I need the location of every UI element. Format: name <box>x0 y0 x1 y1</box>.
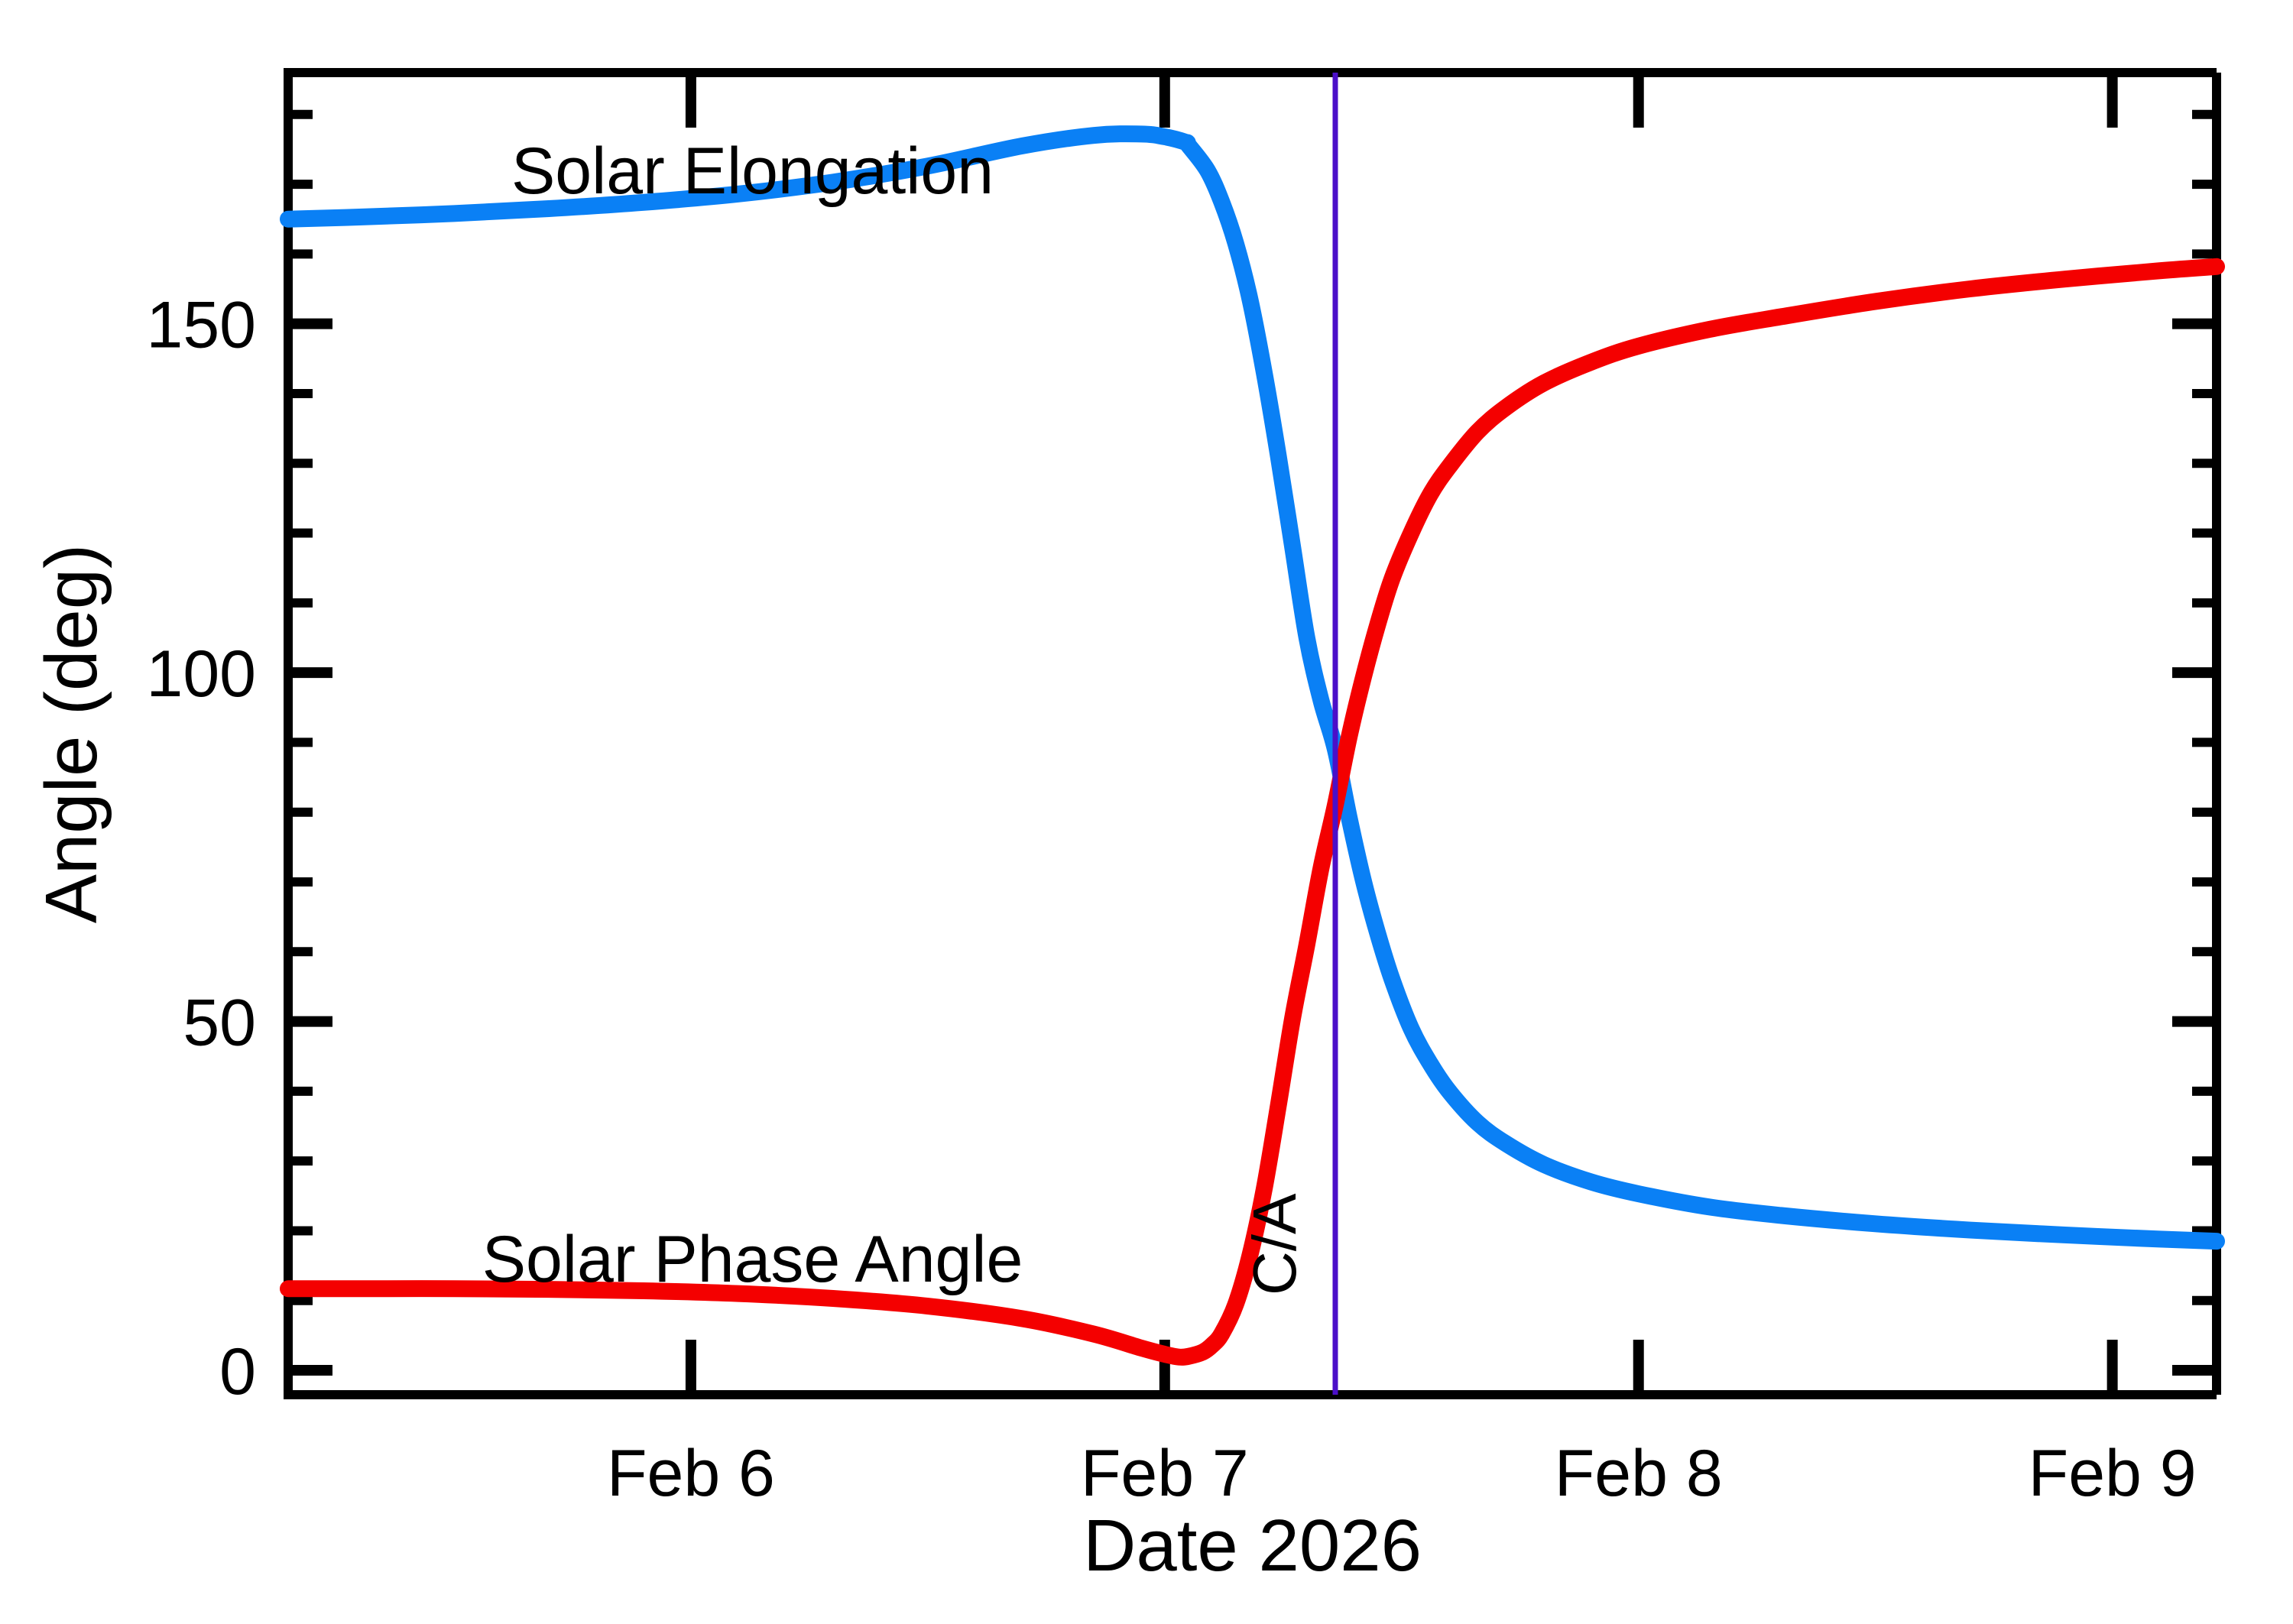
y-tick-label: 0 <box>219 1335 256 1408</box>
x-tick-label: Feb 8 <box>1555 1437 1723 1510</box>
y-axis-title: Angle (deg) <box>31 544 112 923</box>
close-approach-label: C/A <box>1241 1193 1309 1295</box>
y-tick-label: 50 <box>183 987 256 1060</box>
x-axis-title: Date 2026 <box>1083 1505 1422 1587</box>
y-tick-label: 100 <box>147 637 257 711</box>
series-label-solar-phase-angle: Solar Phase Angle <box>482 1223 1023 1296</box>
x-tick-label: Feb 6 <box>607 1437 775 1510</box>
chart-page: C/A 050100150Feb 6Feb 7Feb 8Feb 9Solar E… <box>0 0 2293 1624</box>
x-tick-label: Feb 7 <box>1081 1437 1249 1510</box>
x-tick-label: Feb 9 <box>2029 1437 2197 1510</box>
series-label-solar-elongation: Solar Elongation <box>511 135 994 208</box>
chart-background <box>0 0 2293 1624</box>
solar-geometry-chart: C/A 050100150Feb 6Feb 7Feb 8Feb 9Solar E… <box>0 0 2293 1624</box>
y-tick-label: 150 <box>147 289 257 362</box>
